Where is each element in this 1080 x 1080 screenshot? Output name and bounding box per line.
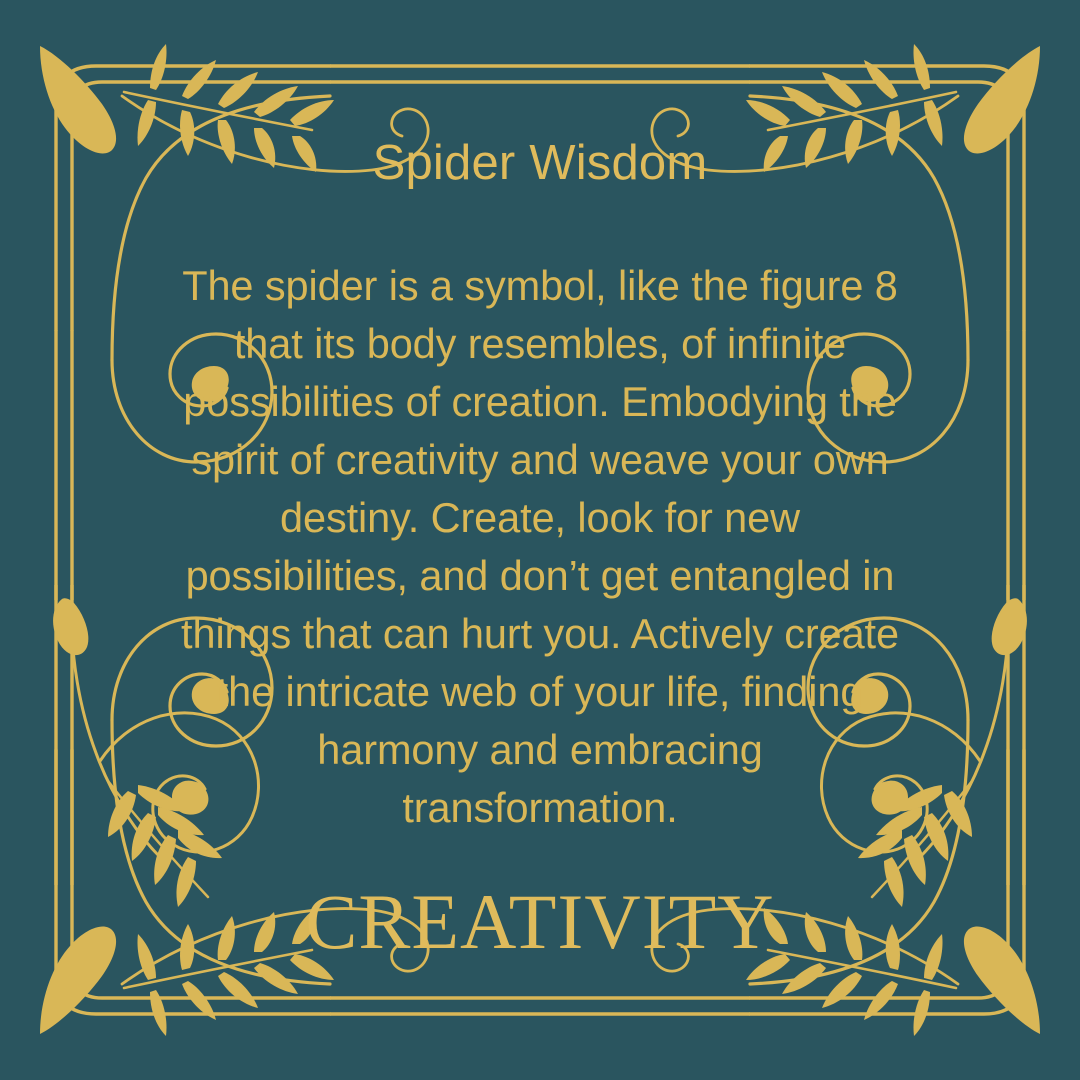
- body-paragraph: The spider is a symbol, like the figure …: [180, 257, 900, 837]
- page-title: Spider Wisdom: [373, 138, 708, 189]
- card-content: Spider Wisdom The spider is a symbol, li…: [0, 0, 1080, 1080]
- quote-card: Spider Wisdom The spider is a symbol, li…: [0, 0, 1080, 1080]
- brand-wordmark: CREATIVITY: [305, 883, 774, 961]
